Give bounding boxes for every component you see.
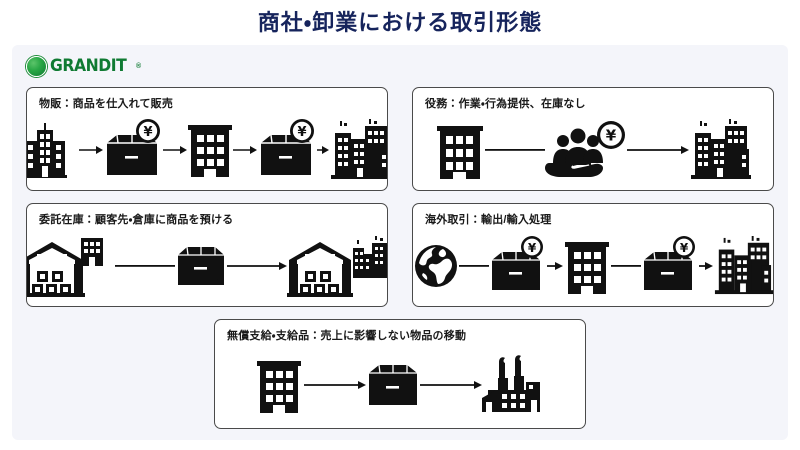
- arrow-right-icon: [547, 259, 563, 273]
- arrow-right-icon: [485, 143, 545, 157]
- trademark-icon: ®: [136, 63, 141, 70]
- panel-mushou-shikyuu[interactable]: 無償支給・支給品：売上に影響しない物品の移動: [214, 319, 586, 429]
- flow-diagram-mushou-shikyuu: [215, 346, 585, 424]
- svg-text:¥: ¥: [297, 125, 306, 140]
- factory-icon: [482, 354, 546, 416]
- panel-itaku-zaiko[interactable]: 委託在庫：顧客先・倉庫に商品を預ける: [26, 203, 388, 307]
- svg-text:¥: ¥: [680, 241, 689, 255]
- svg-text:¥: ¥: [143, 125, 152, 140]
- package-box-icon: ¥: [489, 236, 547, 296]
- yen-coin-icon: ¥: [597, 121, 625, 149]
- arrow-right-icon: [227, 259, 287, 273]
- package-box-icon: ¥: [103, 119, 163, 181]
- arrow-right-icon: [317, 143, 329, 157]
- page-title: 商社・卸業における取引形態: [0, 8, 800, 38]
- arrow-right-icon: [233, 143, 257, 157]
- yen-coin-icon: ¥: [136, 119, 160, 143]
- panel-butsuhan[interactable]: 物販：商品を仕入れて販売: [26, 87, 388, 191]
- panel-label-ekimu: 役務：作業・行為提供、在庫なし: [425, 95, 586, 111]
- svg-text:¥: ¥: [528, 241, 537, 255]
- flow-diagram-ekimu: ¥: [413, 114, 773, 186]
- flow-diagram-kaigai-torihiki: ¥: [413, 230, 773, 302]
- cityscape-icon: [329, 119, 388, 181]
- grandit-logo: GRANDIT ®: [26, 55, 141, 77]
- arrow-right-icon: [79, 143, 103, 157]
- panel-label-butsuhan: 物販：商品を仕入れて販売: [39, 95, 173, 111]
- panel-label-kaigai-torihiki: 海外取引：輸出/輸入処理: [425, 211, 551, 227]
- panel-label-itaku-zaiko: 委託在庫：顧客先・倉庫に商品を預ける: [39, 211, 233, 227]
- warehouse-city-icon: [287, 234, 388, 298]
- brand-name: GRANDIT: [50, 56, 126, 76]
- yen-coin-icon: ¥: [521, 236, 543, 258]
- panel-label-mushou-shikyuu: 無償支給・支給品：売上に影響しない物品の移動: [227, 327, 466, 343]
- office-building-icon: [563, 237, 611, 295]
- office-building-icon: [254, 356, 304, 414]
- panel-kaigai-torihiki[interactable]: 海外取引：輸出/輸入処理: [412, 203, 774, 307]
- flow-diagram-butsuhan: ¥: [27, 114, 387, 186]
- office-building-icon: [435, 120, 485, 180]
- arrow-right-icon: [699, 259, 713, 273]
- package-box-icon: [175, 241, 227, 291]
- arrow-right-icon: [163, 143, 187, 157]
- slide-root: 商社・卸業における取引形態 GRANDIT ® 物販：商品を仕入れて販売: [0, 0, 800, 450]
- cityscape-icon: [713, 235, 773, 297]
- arrow-right-icon: [304, 378, 366, 392]
- service-hand-people-icon: ¥: [545, 119, 627, 181]
- arrow-right-icon: [611, 259, 641, 273]
- package-box-icon: [366, 359, 420, 411]
- office-building-icon: [26, 121, 79, 179]
- warehouse-icon: [26, 234, 115, 298]
- globe-icon: [413, 243, 459, 289]
- yen-coin-icon: ¥: [673, 236, 695, 258]
- yen-coin-icon: ¥: [290, 119, 314, 143]
- content-board: GRANDIT ® 物販：商品を仕入れて販売: [12, 45, 788, 440]
- office-building-icon: [187, 121, 233, 179]
- flow-diagram-itaku-zaiko: [27, 230, 387, 302]
- cityscape-icon: [689, 119, 751, 181]
- arrow-right-icon: [420, 378, 482, 392]
- arrow-right-icon: [627, 143, 689, 157]
- package-box-icon: ¥: [257, 119, 317, 181]
- arrow-right-icon: [459, 259, 489, 273]
- arrow-right-icon: [115, 259, 175, 273]
- panel-ekimu[interactable]: 役務：作業・行為提供、在庫なし: [412, 87, 774, 191]
- package-box-icon: ¥: [641, 236, 699, 296]
- svg-text:¥: ¥: [606, 127, 617, 145]
- green-sphere-icon: [26, 56, 47, 77]
